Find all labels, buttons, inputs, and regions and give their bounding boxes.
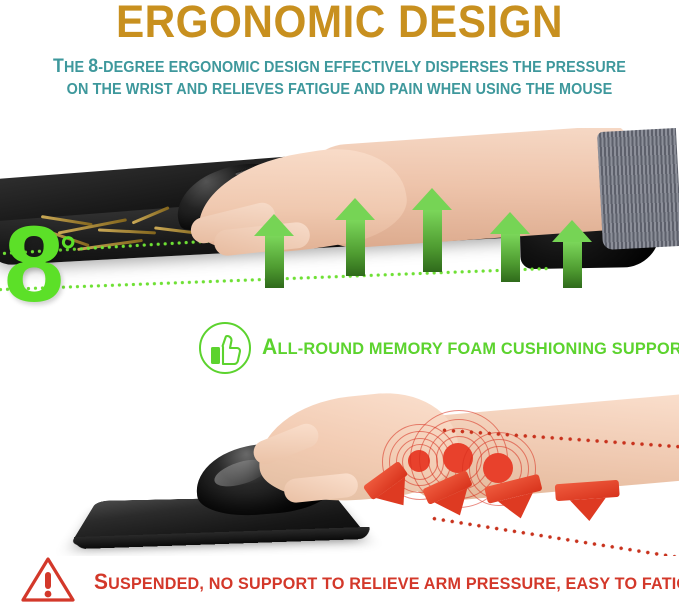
warning-triangle-icon <box>20 555 76 603</box>
pressure-arrow-up-2 <box>335 198 375 276</box>
benefit-caption: ALL-ROUND MEMORY FOAM CUSHIONING SUPPORT <box>262 334 679 360</box>
infographic-canvas: ERGONOMIC DESIGN THE 8-DEGREE ERGONOMIC … <box>0 0 679 610</box>
pressure-arrow-up-1 <box>254 214 294 288</box>
arrow-head-icon <box>490 212 530 234</box>
subtitle-dropcap: T <box>53 56 64 77</box>
angle-badge: 8° <box>4 210 72 318</box>
arrow-shaft <box>423 210 442 272</box>
page-title: ERGONOMIC DESIGN <box>20 0 658 48</box>
arrow-shaft <box>346 220 365 276</box>
drawback-row: SUSPENDED, NO SUPPORT TO RELIEVE ARM PRE… <box>0 553 679 605</box>
pressure-arrow-down-4 <box>555 480 622 523</box>
pressure-arrow-up-5 <box>552 220 592 288</box>
benefit-caption-dropcap: A <box>262 334 277 359</box>
drawback-caption: SUSPENDED, NO SUPPORT TO RELIEVE ARM PRE… <box>94 569 679 595</box>
pressure-arrow-up-4 <box>490 212 530 282</box>
subtitle-degree-number: 8 <box>88 56 98 77</box>
arrow-shaft <box>563 242 582 288</box>
subtitle-seg-a: HE <box>64 59 88 76</box>
page-subtitle: THE 8-DEGREE ERGONOMIC DESIGN EFFECTIVEL… <box>24 56 655 101</box>
angle-badge-value: 8 <box>4 203 60 324</box>
arrow-shaft <box>501 234 520 282</box>
ripple-core <box>483 453 513 483</box>
thumbs-up-icon <box>199 322 251 374</box>
pressure-path-lower <box>430 516 679 556</box>
arrow-head-icon <box>570 498 607 522</box>
arrow-shaft <box>265 236 284 288</box>
benefit-caption-rest: LL-ROUND MEMORY FOAM CUSHIONING SUPPORT <box>277 339 679 358</box>
arrow-head-icon <box>552 220 592 242</box>
arrow-head-icon <box>254 214 294 236</box>
pressure-arrow-up-3 <box>412 188 452 272</box>
drawback-caption-rest: USPENDED, NO SUPPORT TO RELIEVE ARM PRES… <box>108 574 679 593</box>
bottom-product-scene <box>0 388 679 556</box>
arrow-head-icon <box>335 198 375 220</box>
sleeve-cuff <box>597 128 679 250</box>
subtitle-seg-b: -DEGREE ERGONOMIC DESIGN EFFECTIVELY DIS… <box>98 59 626 76</box>
subtitle-line-1: THE 8-DEGREE ERGONOMIC DESIGN EFFECTIVEL… <box>24 56 655 79</box>
benefit-row: ALL-ROUND MEMORY FOAM CUSHIONING SUPPORT <box>0 322 679 378</box>
subtitle-line-2: ON THE WRIST AND RELIEVES FATIGUE AND PA… <box>24 79 655 101</box>
angle-badge-unit: ° <box>60 229 72 273</box>
arrow-head-icon <box>412 188 452 210</box>
top-product-scene <box>0 128 679 323</box>
drawback-caption-dropcap: S <box>94 569 108 594</box>
